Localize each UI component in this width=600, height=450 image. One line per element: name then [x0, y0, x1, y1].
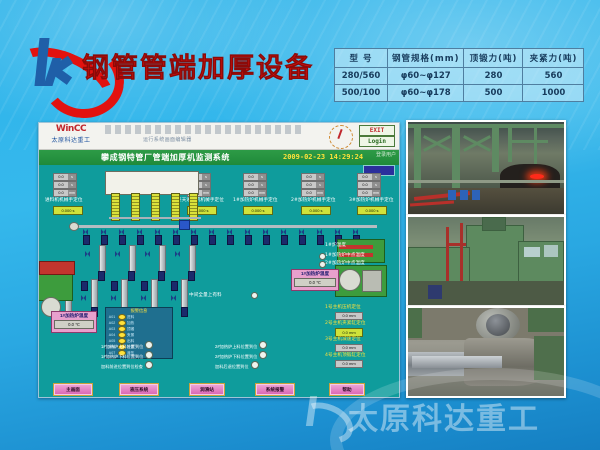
right-label-0: 1#炉温度	[325, 243, 346, 248]
check-row-4[interactable]: 加料前进位置到位检查	[101, 361, 153, 370]
right-label-1: 1#加热炉中点温度	[325, 253, 365, 258]
hmi-button-2[interactable]: 润滑站	[189, 383, 225, 396]
group-value-4: 0.000 s	[357, 206, 387, 215]
toolbar-caption: 运行系统画面编辑器	[143, 136, 192, 143]
watermark: 太原科达重工	[300, 392, 590, 438]
temp-panel-value: 0.0 ℃	[294, 278, 336, 287]
furnace-tank	[105, 171, 199, 195]
gauge-icon	[329, 125, 353, 149]
photo-thickening-press	[406, 215, 566, 307]
temp-panel-left: 1#加热炉温度 0.0 ℃	[51, 311, 97, 333]
table-row: 500/100 φ60~φ178 500 1000	[335, 85, 584, 102]
hydraulic-unit-3	[39, 273, 73, 301]
check-row-2[interactable]: 2#加热炉上料位置到位	[215, 341, 267, 350]
hmi-button-1[interactable]: 液压系统	[119, 383, 159, 396]
group-label-1: 夹天进料机机械手定位	[177, 198, 224, 203]
page-title: 钢管管端加厚设备	[82, 46, 314, 85]
toolbar-icon-strip[interactable]	[105, 125, 305, 134]
readout-g3-2: 0.0mm	[243, 189, 267, 197]
readout-g4-1: 0.0s	[301, 181, 325, 189]
roller-left	[69, 222, 79, 231]
main-cyl-label-3: 4号主机顶锻缸定位	[325, 353, 366, 358]
hmi-user-label: 登录用户	[376, 151, 396, 158]
wincc-brand: WinCC 太原科达重工	[42, 124, 100, 144]
temp-panel: 1#加热炉温度 0.0 ℃	[291, 269, 339, 291]
valve-bank	[83, 229, 379, 243]
watermark-logo-icon	[302, 396, 342, 430]
wincc-label: WinCC	[42, 124, 100, 134]
readout-g1-1: 0.0s	[53, 181, 77, 189]
readout-g1-2: 0.0mm	[53, 189, 77, 197]
table-header-row: 型 号 钢管规格(mm) 顶锻力(吨) 夹紧力(吨)	[335, 49, 584, 68]
accumulator-left	[39, 261, 75, 275]
temp-panel-title: 1#加热炉温度	[292, 270, 338, 277]
group-label-3: 2#加热炉机械手定位	[291, 198, 336, 203]
hmi-toolbar: WinCC 太原科达重工 运行系统画面编辑器 EXIT Login	[39, 123, 399, 150]
exit-button[interactable]: EXIT	[359, 125, 395, 136]
spec-r0-c2: 280	[464, 68, 523, 85]
right-label-2: 2#加热炉中点温度	[325, 261, 365, 266]
group-value-3: 0.000 s	[301, 206, 331, 215]
main-cyl-value-1: 0.0 mm	[335, 328, 363, 337]
check-row-3[interactable]: 2#加热炉下料位置到位	[215, 351, 267, 360]
conveyor-rail	[77, 225, 377, 228]
main-cyl-value-2: 0.0 mm	[335, 344, 363, 352]
photo-pipe-line-furnace	[406, 120, 566, 216]
spec-r1-c2: 500	[464, 85, 523, 102]
spec-r1-c3: 1000	[523, 85, 584, 102]
main-cyl-label-2: 3号主机减速定位	[325, 337, 361, 342]
login-button[interactable]: Login	[359, 136, 395, 147]
spec-header-1: 钢管规格(mm)	[388, 49, 464, 68]
spec-r1-c1: φ60~φ178	[388, 85, 464, 102]
spec-header-0: 型 号	[335, 49, 388, 68]
pump-wheel	[339, 269, 361, 291]
main-cyl-value-3: 0.0 mm	[335, 360, 363, 368]
wincc-sub-label: 太原科达重工	[42, 135, 100, 144]
hmi-canvas: 0.0s 0.0s 0.0mm 进料机机械手定位 0.000 s 0.0s 0.…	[39, 165, 399, 397]
hmi-title-bar: 攀成钢特管厂管端加厚机监测系统 2009-02-23 14:29:24 登录用户	[39, 150, 399, 165]
hmi-screenshot-panel: WinCC 太原科达重工 运行系统画面编辑器 EXIT Login 攀成钢特管厂…	[38, 122, 400, 398]
main-cyl-label-0: 1号主机压机定位	[325, 305, 361, 310]
spec-table: 型 号 钢管规格(mm) 顶锻力(吨) 夹紧力(吨) 280/560 φ60~φ…	[334, 48, 584, 102]
readout-g4-0: 0.0s	[301, 173, 325, 181]
check-row-0[interactable]: 1#加热炉上料位置到位	[101, 341, 153, 350]
readout-g3-1: 0.0s	[243, 181, 267, 189]
group-value-0: 0.000 s	[53, 206, 83, 215]
center-stock-lamp	[251, 292, 258, 299]
group-label-0: 进料机机械手定位	[45, 198, 83, 203]
center-stock-label: 中间全量上有料	[189, 293, 222, 298]
temp-panel-left-title: 1#加热炉温度	[52, 312, 96, 319]
check-row-5[interactable]: 加料后退位置到位	[215, 361, 259, 370]
spec-r0-c3: 560	[523, 68, 584, 85]
slide-root: 钢管管端加厚设备 型 号 钢管规格(mm) 顶锻力(吨) 夹紧力(吨) 280/…	[0, 0, 600, 450]
main-cyl-label-1: 2号主机夹紧缸定位	[325, 321, 366, 326]
temp-panel-left-value: 0.0 ℃	[54, 320, 94, 329]
hmi-title: 攀成钢特管厂管端加厚机监测系统	[101, 152, 230, 163]
furnace-manifold	[109, 217, 201, 219]
group-value-2: 0.000 s	[243, 206, 273, 215]
hmi-timestamp: 2009-02-23 14:29:24	[283, 153, 363, 161]
right-lamp-2	[319, 261, 326, 268]
check-row-1[interactable]: 1#加热炉下料位置到位	[101, 351, 153, 360]
table-row: 280/560 φ60~φ127 280 560	[335, 68, 584, 85]
readout-g5-1: 0.0s	[357, 181, 381, 189]
spec-r0-c1: φ60~φ127	[388, 68, 464, 85]
spec-r0-c0: 280/560	[335, 68, 388, 85]
kd-logo-icon	[24, 36, 90, 98]
readout-g3-0: 0.0s	[243, 173, 267, 181]
group-label-4: 3#加热炉机械手定位	[349, 198, 394, 203]
spec-r1-c0: 500/100	[335, 85, 388, 102]
spec-header-2: 顶锻力(吨)	[464, 49, 523, 68]
readout-g5-0: 0.0s	[357, 173, 381, 181]
group-label-2: 1#加热炉机械手定位	[233, 198, 278, 203]
spec-header-3: 夹紧力(吨)	[523, 49, 584, 68]
readout-g1-0: 0.0s	[53, 173, 77, 181]
hmi-button-3[interactable]: 系统报警	[255, 383, 295, 396]
readout-g5-2: 0.0mm	[357, 189, 381, 197]
main-cyl-value-0: 0.0 mm	[335, 312, 363, 320]
hmi-button-0[interactable]: 主画面	[53, 383, 93, 396]
watermark-text: 太原科达重工	[348, 394, 540, 438]
right-lamp-1	[319, 253, 326, 260]
readout-g4-2: 0.0mm	[301, 189, 325, 197]
